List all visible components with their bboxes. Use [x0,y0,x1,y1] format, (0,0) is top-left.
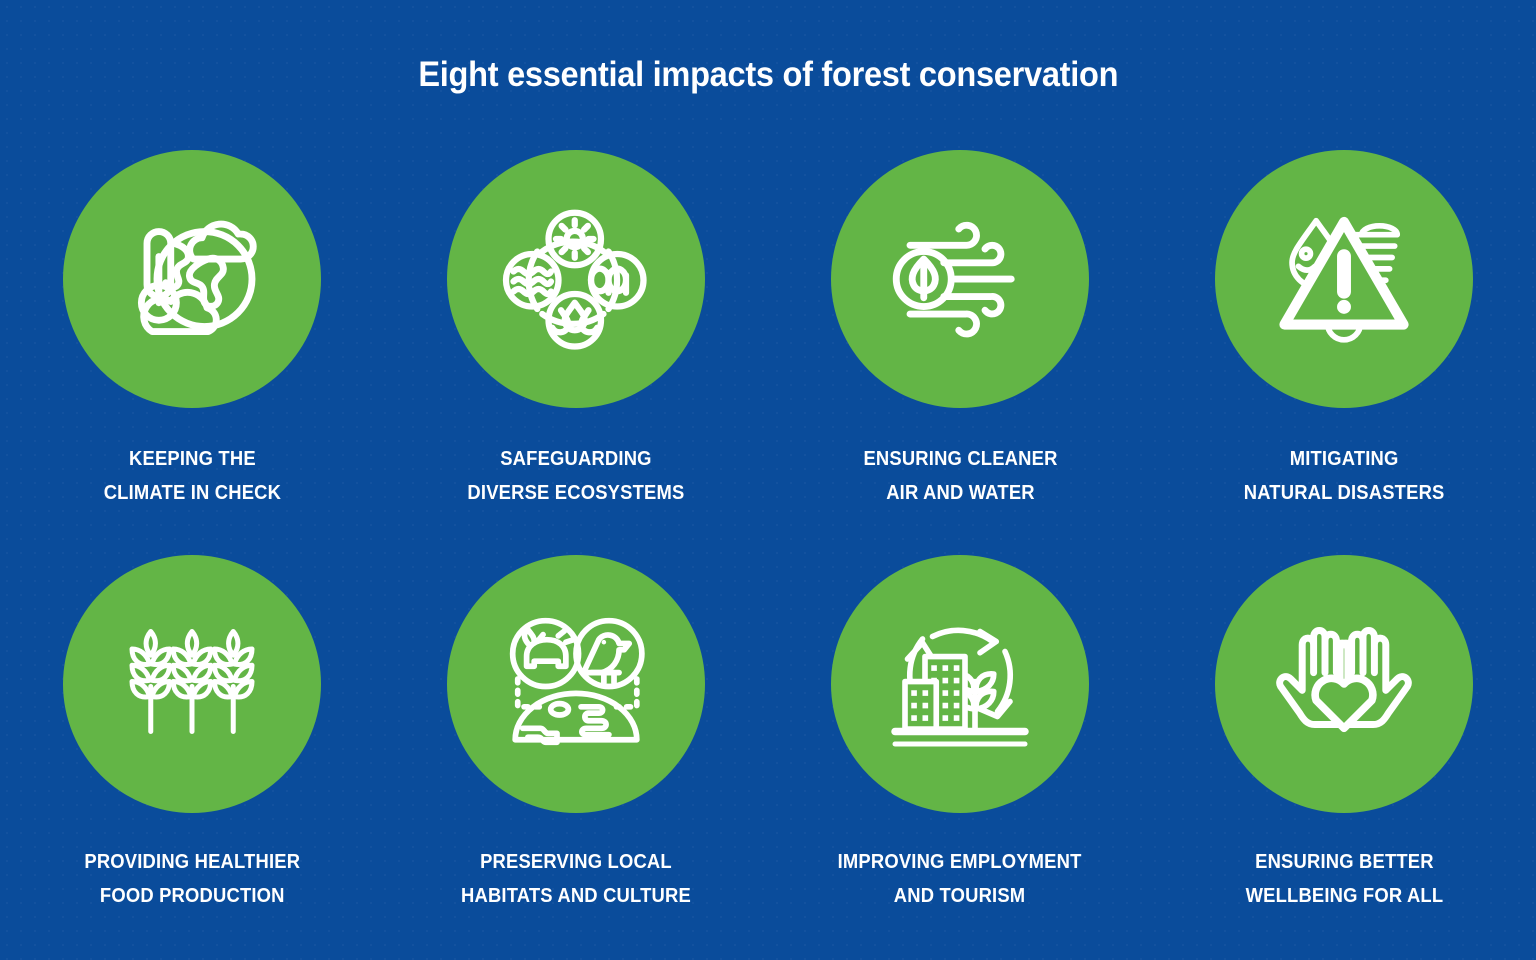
impact-label-5-line2: FOOD PRODUCTION [84,879,300,913]
impact-label-7: IMPROVING EMPLOYMENT AND TOURISM [838,845,1082,914]
impact-card-1: KEEPING THE CLIMATE IN CHECK [0,150,384,555]
impact-label-3-line1: ENSURING CLEANER [863,448,1057,470]
impact-label-7-line1: IMPROVING EMPLOYMENT [838,851,1082,873]
impacts-grid: KEEPING THE CLIMATE IN CHECK [0,150,1536,960]
impact-card-3: ENSURING CLEANER AIR AND WATER [768,150,1152,555]
impact-label-3-line2: AIR AND WATER [863,476,1057,510]
wheat-stalks-icon [117,609,267,759]
impact-label-1-line1: KEEPING THE [129,448,256,470]
impact-label-6-line1: PRESERVING LOCAL [480,851,672,873]
title-bar: Eight essential impacts of forest conser… [0,0,1536,150]
impact-icon-circle-8 [1215,555,1473,813]
impact-card-7: IMPROVING EMPLOYMENT AND TOURISM [768,555,1152,960]
impact-label-8: ENSURING BETTER WELLBEING FOR ALL [1245,845,1443,914]
impact-label-1-line2: CLIMATE IN CHECK [103,476,280,510]
impact-label-1: KEEPING THE CLIMATE IN CHECK [103,442,280,511]
impact-label-5-line1: PROVIDING HEALTHIER [84,851,300,873]
ecosystem-cycle-icon [501,204,651,354]
impact-label-2: SAFEGUARDING DIVERSE ECOSYSTEMS [467,442,684,511]
impact-label-2-line2: DIVERSE ECOSYSTEMS [467,476,684,510]
impact-label-7-line2: AND TOURISM [838,879,1082,913]
impact-icon-circle-7 [831,555,1089,813]
warning-disaster-icon [1268,203,1420,355]
impact-label-2-line1: SAFEGUARDING [500,448,651,470]
page-title: Eight essential impacts of forest conser… [418,55,1118,95]
impact-label-3: ENSURING CLEANER AIR AND WATER [863,442,1057,511]
impact-card-8: ENSURING BETTER WELLBEING FOR ALL [1152,555,1536,960]
impact-card-6: PRESERVING LOCAL HABITATS AND CULTURE [384,555,768,960]
impact-icon-circle-3 [831,150,1089,408]
impact-label-6-line2: HABITATS AND CULTURE [461,879,691,913]
impact-label-4-line2: NATURAL DISASTERS [1244,476,1445,510]
wildlife-habitat-icon [500,608,652,760]
leaf-wind-icon [885,204,1035,354]
buildings-growth-cycle-icon [885,609,1035,759]
impact-card-2: SAFEGUARDING DIVERSE ECOSYSTEMS [384,150,768,555]
impact-label-4-line1: MITIGATING [1290,448,1399,470]
impact-card-5: PROVIDING HEALTHIER FOOD PRODUCTION [0,555,384,960]
impact-icon-circle-4 [1215,150,1473,408]
thermometer-globe-clouds-icon [117,204,267,354]
impact-label-8-line1: ENSURING BETTER [1255,851,1434,873]
impact-label-5: PROVIDING HEALTHIER FOOD PRODUCTION [84,845,300,914]
impact-label-8-line2: WELLBEING FOR ALL [1245,879,1443,913]
impact-icon-circle-5 [63,555,321,813]
impact-card-4: MITIGATING NATURAL DISASTERS [1152,150,1536,555]
impact-icon-circle-1 [63,150,321,408]
impact-icon-circle-2 [447,150,705,408]
impact-label-6: PRESERVING LOCAL HABITATS AND CULTURE [461,845,691,914]
impact-label-4: MITIGATING NATURAL DISASTERS [1244,442,1445,511]
impact-icon-circle-6 [447,555,705,813]
hands-heart-icon [1268,608,1420,760]
